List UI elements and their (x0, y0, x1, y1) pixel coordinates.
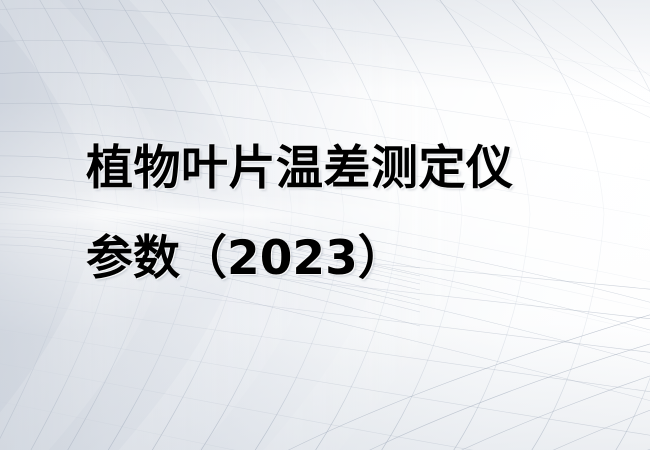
title-block: 植物叶片温差测定仪 参数（2023） (86, 124, 606, 304)
title-line-1: 植物叶片温差测定仪 (86, 124, 606, 214)
slide-canvas: 植物叶片温差测定仪 参数（2023） (0, 0, 650, 450)
title-line-2: 参数（2023） (86, 214, 606, 304)
